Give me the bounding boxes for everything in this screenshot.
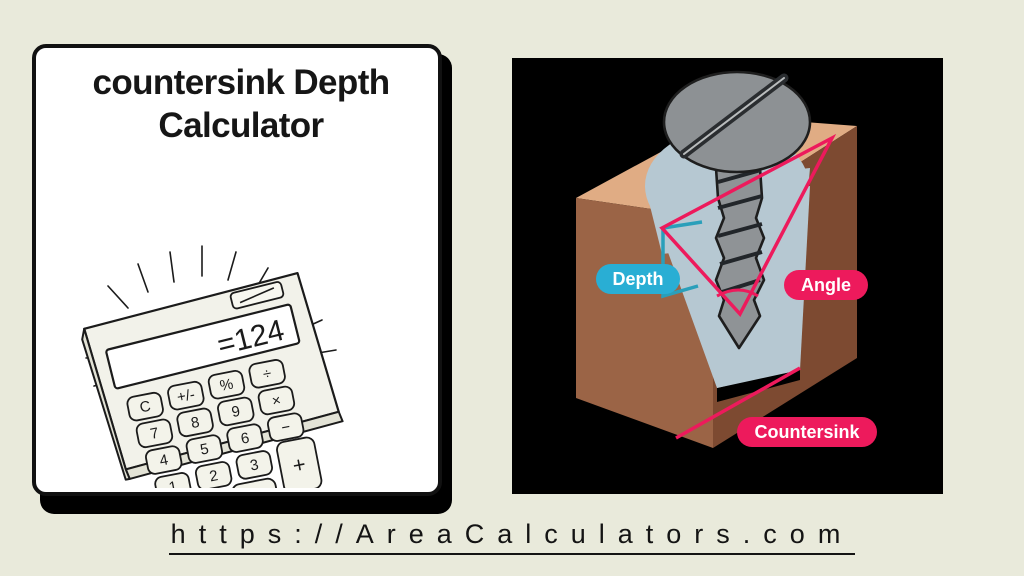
depth-label-text: Depth <box>613 269 664 289</box>
svg-text:+/-: +/- <box>176 386 197 406</box>
page-title: countersink Depth Calculator <box>50 62 432 147</box>
label-angle: Angle <box>784 270 868 300</box>
footer-url[interactable]: https://AreaCalculators.com <box>0 519 1024 555</box>
countersink-diagram-panel: Depth Angle Countersink <box>512 58 943 494</box>
slide-canvas: countersink Depth Calculator <box>0 0 1024 576</box>
label-depth: Depth <box>596 264 680 294</box>
calculator-illustration: =124 <box>50 238 432 488</box>
footer-url-text[interactable]: https://AreaCalculators.com <box>169 519 856 555</box>
title-card: countersink Depth Calculator <box>32 44 442 496</box>
countersink-label-text: Countersink <box>754 422 860 442</box>
label-countersink: Countersink <box>737 417 877 447</box>
calculator-body: =124 <box>78 270 356 488</box>
angle-label-text: Angle <box>801 275 851 295</box>
